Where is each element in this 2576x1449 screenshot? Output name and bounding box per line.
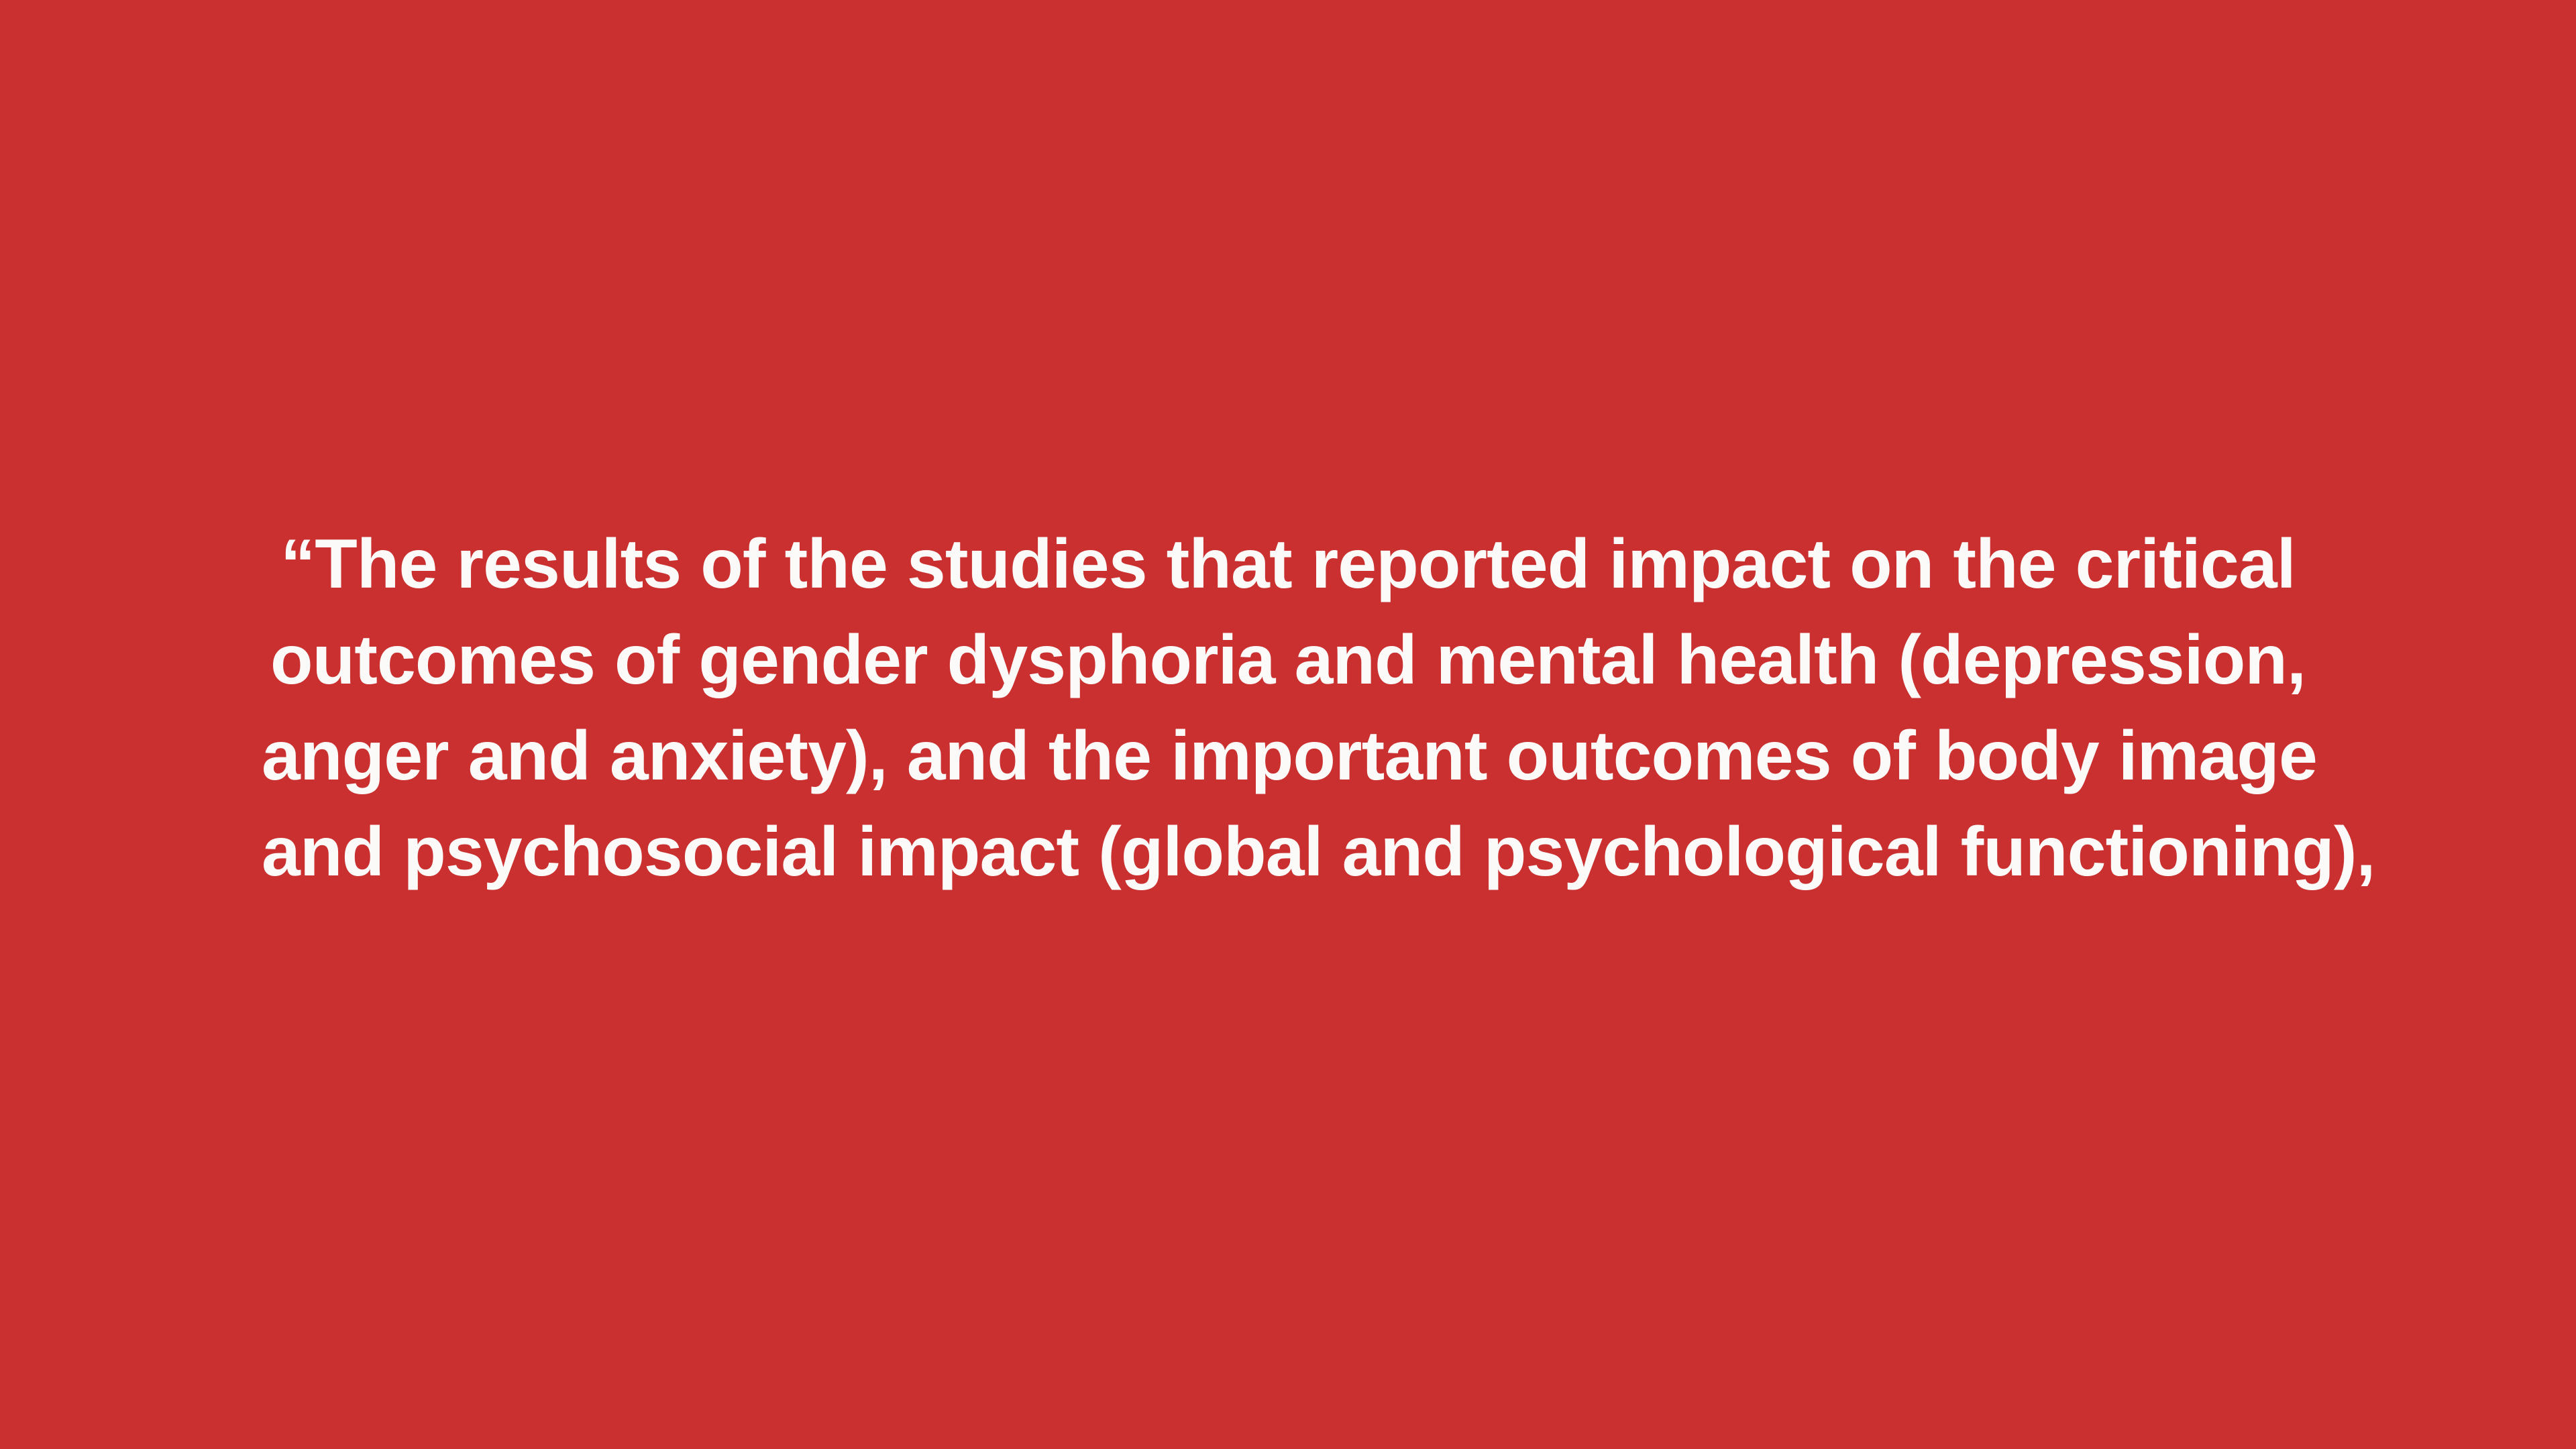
- quote-line-4: and psychosocial impact (global and psyc…: [262, 804, 2314, 900]
- quote-line-3: anger and anxiety), and the important ou…: [262, 708, 2314, 804]
- quote-line-1: “The results of the studies that reporte…: [262, 517, 2314, 612]
- pull-quote-text: “The results of the studies that reporte…: [262, 517, 2314, 900]
- quote-line-2: outcomes of gender dysphoria and mental …: [262, 612, 2314, 708]
- quote-block: “The results of the studies that reporte…: [262, 517, 2314, 900]
- quote-slide: “The results of the studies that reporte…: [0, 0, 2576, 1449]
